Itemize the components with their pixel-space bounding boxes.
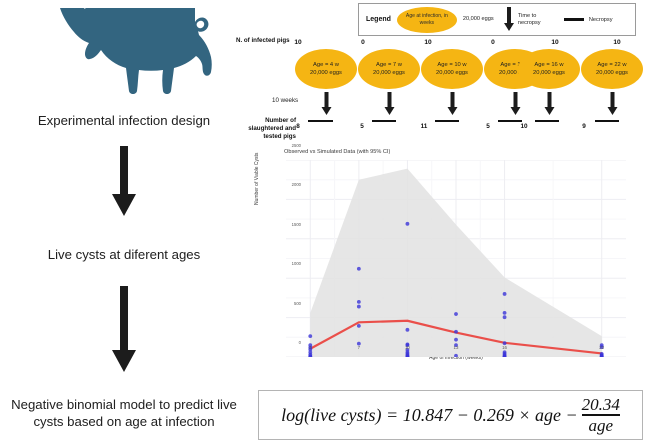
chart-data-point	[308, 334, 312, 338]
necropsy-bar-3	[435, 120, 459, 122]
infected-count-3: 10	[421, 39, 435, 46]
chart-y-tick-1000: 1000	[277, 261, 301, 266]
chart-x-tick-13: 13	[447, 345, 465, 350]
necropsy-bar-2	[372, 120, 396, 122]
study-design-and-results: Legend Age at infection, in weeks 20,000…	[236, 0, 645, 444]
chart-x-tick-7: 7	[350, 345, 368, 350]
legend-eggs-label: 20,000 eggs	[463, 16, 495, 23]
chart-data-point	[357, 267, 361, 271]
legend-age-ellipse: Age at infection, in weeks	[397, 7, 457, 33]
experimental-design-flow: Experimental infection design Live cysts…	[0, 0, 248, 444]
chart-plot-area	[286, 160, 626, 357]
chart-data-point	[357, 305, 361, 309]
necropsy-arrow-icon-4	[510, 92, 521, 116]
chart-data-point	[503, 315, 507, 319]
pig-group-5-age: Age = 16 w	[534, 61, 563, 69]
equation-left-side: log(live cysts) = 10.847 − 0.269 × age −	[281, 405, 578, 426]
chart-y-tick-1500: 1500	[277, 222, 301, 227]
infected-count-6: 10	[610, 39, 624, 46]
pig-group-2: Age = 7 w 20,000 eggs	[358, 49, 420, 89]
chart-y-axis-title: Number of Viable Cysts	[254, 153, 260, 205]
necropsy-arrow-icon-1	[321, 92, 332, 116]
chart-data-point	[454, 312, 458, 316]
down-arrow-icon-1	[110, 146, 138, 218]
equation-denominator: age	[588, 417, 613, 434]
legend-necropsy-label: Necropsy	[589, 17, 613, 23]
necropsy-arrow-icon-5	[544, 92, 555, 116]
pig-group-1-age: Age = 4 w	[313, 61, 339, 69]
legend-necropsy-line-icon	[564, 18, 584, 20]
chart-data-point	[454, 338, 458, 342]
pig-group-6-age: Age = 22 w	[597, 61, 626, 69]
chart-canvas	[286, 160, 626, 357]
necropsy-arrow-icon-3	[447, 92, 458, 116]
chart-data-point	[406, 222, 410, 226]
slaughtered-count-5: 10	[517, 123, 531, 130]
flow-step-label-2: Live cysts at diferent ages	[0, 246, 248, 263]
legend-title: Legend	[366, 16, 391, 23]
pig-silhouette-icon	[30, 8, 220, 94]
legend-down-arrow-icon	[503, 7, 515, 32]
slaughtered-count-3: 11	[417, 123, 431, 130]
slaughtered-count-1: 8	[291, 123, 305, 130]
chart-y-tick-0: 0	[277, 340, 301, 345]
infected-count-1: 10	[291, 39, 305, 46]
chart-x-tick-4: 4	[301, 345, 319, 350]
pig-group-6-eggs: 20,000 eggs	[596, 69, 628, 77]
infected-count-4: 0	[486, 39, 500, 46]
chart-y-tick-500: 500	[277, 301, 301, 306]
model-equation: log(live cysts) = 10.847 − 0.269 × age −…	[281, 396, 620, 434]
chart-y-tick-2500: 2500	[277, 143, 301, 148]
infected-pigs-row-label: N. of infected pigs	[236, 37, 290, 44]
pig-group-1-eggs: 20,000 eggs	[310, 69, 342, 77]
pig-group-2-age: Age = 7 w	[376, 61, 402, 69]
necropsy-bar-1	[308, 120, 333, 122]
observed-vs-simulated-chart: Observed vs Simulated Data (with 95% CI)…	[256, 145, 645, 383]
down-arrow-icon-2	[110, 286, 138, 374]
flow-step-label-3: Negative binomial model to predict live …	[0, 396, 248, 430]
pig-group-6: Age = 22 w 20,000 eggs	[581, 49, 643, 89]
legend-time-to-necropsy-label: Time to necropsy	[518, 13, 558, 27]
necropsy-bar-5	[535, 120, 559, 122]
slaughtered-count-2: 5	[355, 123, 369, 130]
chart-title: Observed vs Simulated Data (with 95% CI)	[284, 149, 390, 155]
chart-data-point	[406, 328, 410, 332]
infected-count-2: 0	[356, 39, 370, 46]
pig-group-3: Age = 10 w 20,000 eggs	[421, 49, 483, 89]
pig-group-5-eggs: 20,000 eggs	[533, 69, 565, 77]
equation-numerator: 20.34	[582, 396, 620, 413]
necropsy-arrow-icon-2	[384, 92, 395, 116]
necropsy-arrow-icon-6	[607, 92, 618, 116]
legend: Legend Age at infection, in weeks 20,000…	[358, 3, 636, 36]
chart-data-point	[503, 292, 507, 296]
necropsy-bar-6	[595, 120, 619, 122]
slaughtered-count-4: 5	[481, 123, 495, 130]
slaughtered-count-6: 9	[577, 123, 591, 130]
pig-group-5: Age = 16 w 20,000 eggs	[518, 49, 580, 89]
chart-data-point	[503, 311, 507, 315]
flow-step-label-1: Experimental infection design	[0, 112, 248, 129]
pig-group-3-age: Age = 10 w	[437, 61, 466, 69]
equation-fraction: 20.34 age	[582, 396, 620, 434]
model-equation-box: log(live cysts) = 10.847 − 0.269 × age −…	[258, 390, 643, 440]
chart-data-point	[454, 330, 458, 334]
interval-weeks-label: 10 weeks	[272, 97, 298, 104]
pig-group-1: Age = 4 w 20,000 eggs	[295, 49, 357, 89]
pig-group-2-eggs: 20,000 eggs	[373, 69, 405, 77]
pig-group-3-eggs: 20,000 eggs	[436, 69, 468, 77]
chart-x-tick-16: 16	[496, 345, 514, 350]
chart-data-point	[357, 324, 361, 328]
chart-y-tick-2000: 2000	[277, 182, 301, 187]
infected-count-5: 10	[548, 39, 562, 46]
slaughtered-pigs-row-label: Number of slaughtered and tested pigs	[236, 117, 296, 141]
chart-x-tick-10: 10	[398, 345, 416, 350]
chart-data-point	[357, 300, 361, 304]
chart-x-tick-22: 22	[593, 345, 611, 350]
